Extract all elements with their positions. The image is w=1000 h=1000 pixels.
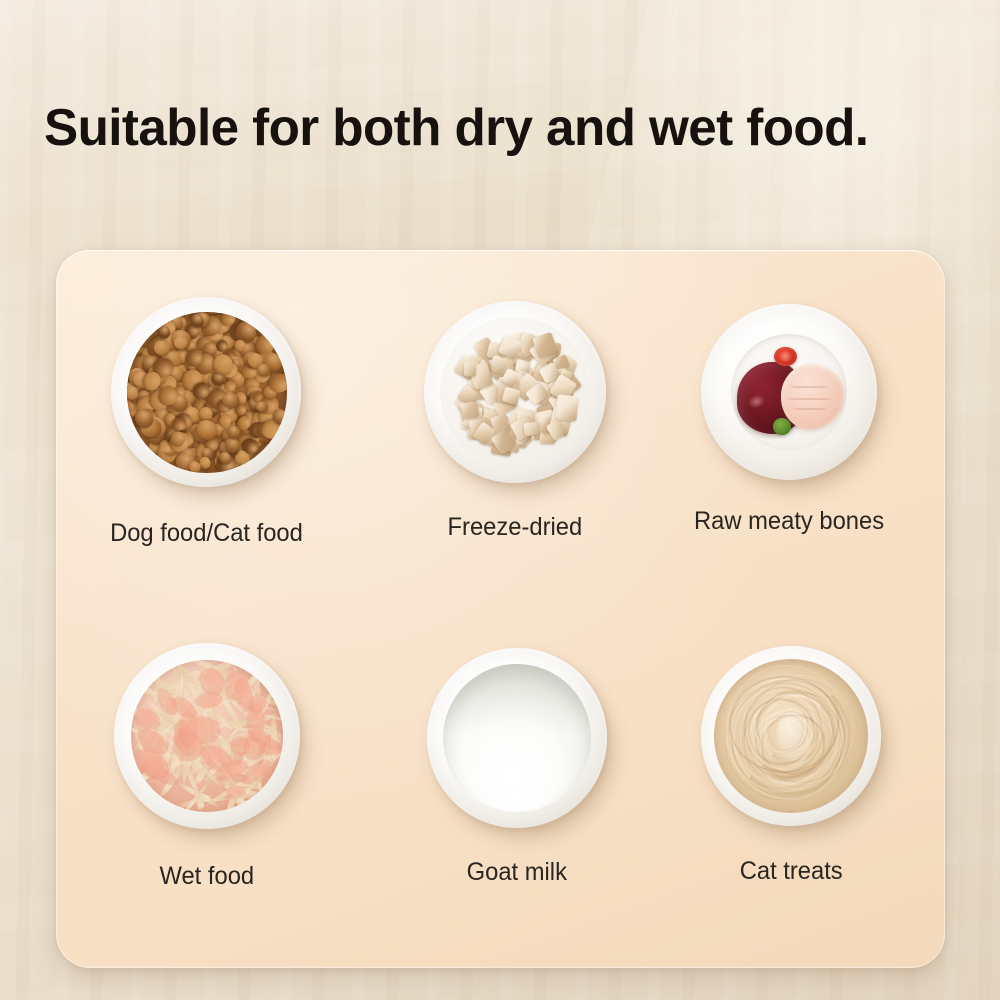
food-item-label: Dog food/Cat food — [110, 519, 303, 548]
food-item-label: Goat milk — [467, 858, 567, 887]
product-feature-image: Suitable for both dry and wet food. Dog … — [0, 0, 1000, 1000]
tomato-slice — [774, 347, 797, 367]
freeze-dried-cube — [524, 421, 541, 436]
food-item-label: Cat treats — [740, 857, 843, 886]
freeze-dried-cube — [555, 394, 578, 421]
page-title: Suitable for both dry and wet food. — [44, 98, 950, 158]
food-item-label: Wet food — [160, 862, 255, 891]
freeze-dried-bowl-icon — [424, 301, 606, 483]
goat-milk-fill — [443, 664, 591, 812]
food-item-goat-milk: Goat milk — [427, 648, 607, 887]
freeze-dried-cube — [460, 401, 479, 419]
freeze-dried-cube — [464, 361, 476, 376]
meat-chunk — [178, 711, 197, 747]
food-item-raw-meaty-bones: Raw meaty bones — [701, 304, 877, 536]
kibble-bowl-icon — [111, 297, 301, 487]
milk-surface-sheen — [443, 664, 591, 812]
liver-highlight — [746, 393, 767, 411]
food-item-cat-treats: Cat treats — [701, 646, 881, 886]
raw-meat-fill — [731, 334, 847, 450]
food-item-wet-food: Wet food — [114, 643, 300, 891]
wet-food-fill — [131, 660, 283, 812]
kibble-fill — [127, 312, 287, 473]
treats-bowl-icon — [701, 646, 881, 826]
food-item-freeze-dried: Freeze-dried — [424, 301, 606, 542]
wet-food-bowl-icon — [114, 643, 300, 829]
raw-meat-plate-icon — [701, 304, 877, 480]
freeze-dried-cube-pile — [457, 329, 577, 455]
food-item-dog-cat-food: Dog food/Cat food — [111, 297, 301, 548]
cat-treats-fill — [714, 659, 868, 813]
food-item-label: Freeze-dried — [448, 513, 583, 542]
freeze-dried-fill — [440, 317, 590, 467]
milk-bowl-icon — [427, 648, 607, 828]
broccoli-floret — [773, 418, 792, 435]
food-item-label: Raw meaty bones — [694, 507, 884, 536]
chicken-breast-piece — [781, 364, 844, 429]
